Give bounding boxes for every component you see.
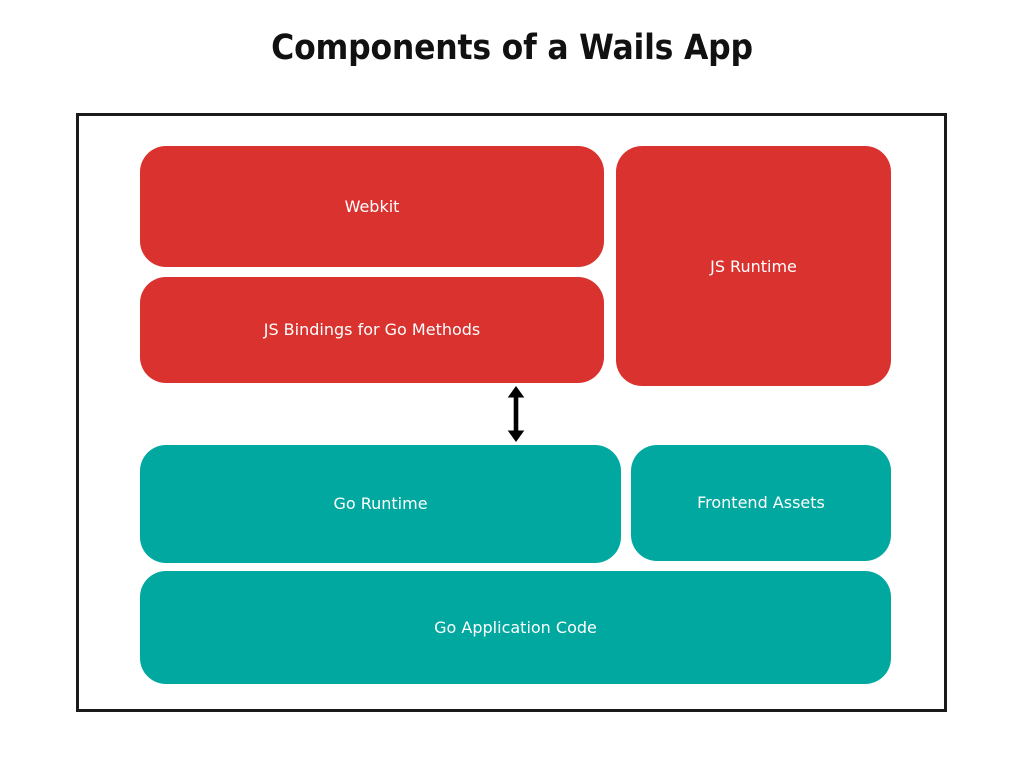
node-go-runtime-label: Go Runtime	[323, 494, 437, 513]
diagram-frame: Webkit JS Bindings for Go Methods JS Run…	[76, 113, 947, 712]
double-arrow-vertical-icon	[502, 386, 530, 442]
node-js-runtime[interactable]: JS Runtime	[616, 146, 891, 386]
node-js-runtime-label: JS Runtime	[700, 257, 807, 276]
node-frontend-assets-label: Frontend Assets	[687, 493, 835, 512]
node-go-app-code-label: Go Application Code	[424, 618, 607, 637]
node-go-runtime[interactable]: Go Runtime	[140, 445, 621, 563]
node-frontend-assets[interactable]: Frontend Assets	[631, 445, 891, 561]
node-js-bindings-label: JS Bindings for Go Methods	[254, 320, 491, 339]
node-js-bindings[interactable]: JS Bindings for Go Methods	[140, 277, 604, 383]
node-go-app-code[interactable]: Go Application Code	[140, 571, 891, 684]
node-webkit[interactable]: Webkit	[140, 146, 604, 267]
node-webkit-label: Webkit	[335, 197, 410, 216]
page-title: Components of a Wails App	[0, 28, 1024, 68]
